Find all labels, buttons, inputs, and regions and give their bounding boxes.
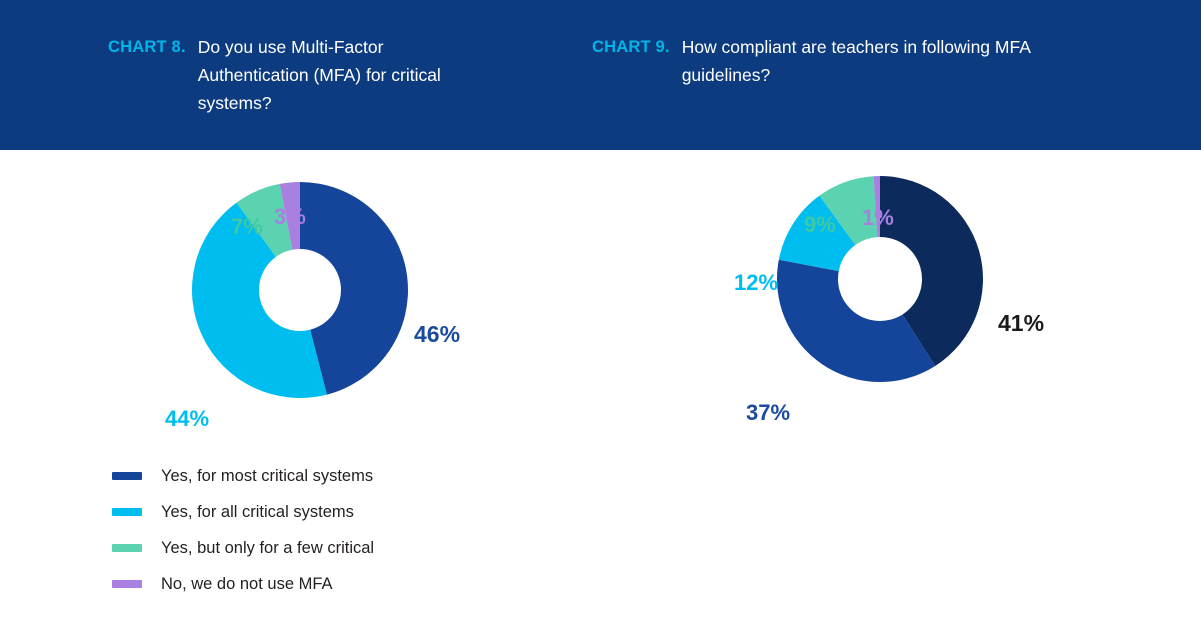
legend-row: Yes, for most critical systems — [112, 458, 552, 494]
chart-8-question: Do you use Multi-Factor Authentication (… — [198, 33, 488, 117]
slice-value-label: 37% — [746, 400, 790, 426]
chart-9-block: 41%37%12%9%1% Moderately compliantVery c… — [600, 150, 1201, 628]
legend-label: Yes, for most critical systems — [161, 467, 373, 486]
slice-value-label: 1% — [862, 205, 894, 231]
legend-row: No, we do not use MFA — [112, 566, 552, 602]
legend-item[interactable]: No, we do not use MFA — [112, 575, 333, 594]
legend-item[interactable]: Yes, for most critical systems — [112, 467, 373, 486]
chart-9-eyebrow: CHART 9. — [592, 33, 670, 61]
slice-value-label: 41% — [998, 310, 1044, 337]
slice-value-label: 3% — [274, 204, 306, 230]
chart-8-title: CHART 8. Do you use Multi-Factor Authent… — [108, 33, 508, 117]
legend-row: Yes, for all critical systems — [112, 494, 552, 530]
legend-swatch-icon — [112, 472, 142, 480]
legend-item[interactable]: Yes, but only for a few critical — [112, 539, 374, 558]
slice-value-label: 12% — [734, 270, 778, 296]
chart-8-donut: 46%44%7%3% — [188, 178, 412, 402]
chart-9-question: How compliant are teachers in following … — [682, 33, 1052, 89]
legend-swatch-icon — [112, 544, 142, 552]
legend-row: Yes, but only for a few critical — [112, 530, 552, 566]
legend-label: Yes, for all critical systems — [161, 503, 354, 522]
legend-label: Yes, but only for a few critical — [161, 539, 374, 558]
legend-swatch-icon — [112, 580, 142, 588]
legend-swatch-icon — [112, 508, 142, 516]
chart-8-legend: Yes, for most critical systemsYes, for a… — [112, 458, 552, 602]
legend-label: No, we do not use MFA — [161, 575, 333, 594]
page-root: CHART 8. Do you use Multi-Factor Authent… — [0, 0, 1201, 628]
chart-9-title: CHART 9. How compliant are teachers in f… — [592, 33, 1092, 89]
legend-item[interactable]: Yes, for all critical systems — [112, 503, 354, 522]
slice-value-label: 9% — [804, 212, 836, 238]
chart-8-block: 46%44%7%3% Yes, for most critical system… — [0, 150, 600, 628]
slice-value-label: 44% — [165, 406, 209, 432]
chart-9-donut: 41%37%12%9%1% — [776, 175, 984, 383]
chart-8-eyebrow: CHART 8. — [108, 33, 186, 61]
slice-value-label: 7% — [231, 214, 263, 240]
slice-value-label: 46% — [414, 321, 460, 348]
